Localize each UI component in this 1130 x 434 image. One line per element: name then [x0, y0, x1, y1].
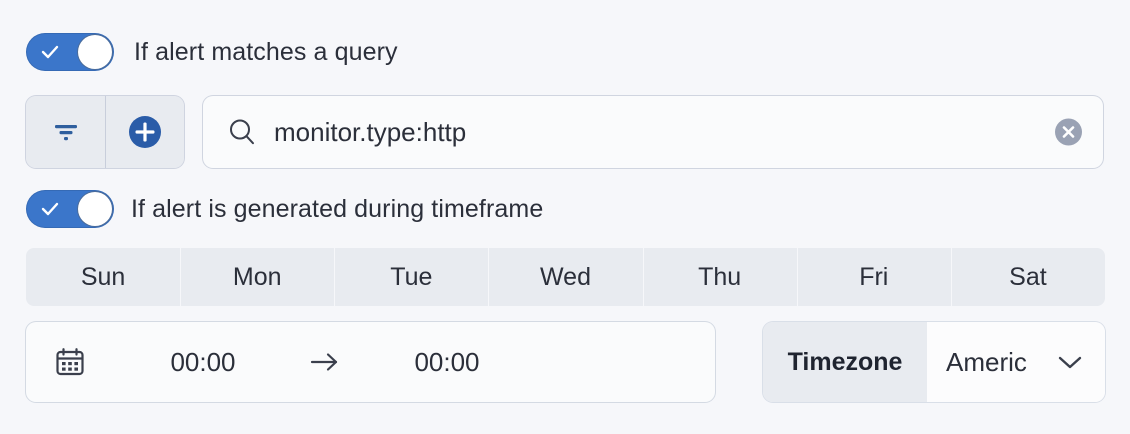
toggle-knob: [78, 35, 112, 69]
search-input[interactable]: monitor.type:http: [274, 117, 466, 148]
check-icon: [40, 42, 60, 62]
query-condition-toggle[interactable]: [26, 33, 114, 71]
filter-icon: [53, 121, 79, 143]
toggle-knob: [78, 192, 112, 226]
query-input-row: monitor.type:http: [26, 96, 1103, 168]
day-button-tue[interactable]: Tue: [334, 248, 488, 306]
timezone-group: Timezone Americ: [763, 322, 1105, 402]
timezone-label: Timezone: [763, 322, 927, 402]
time-range-picker[interactable]: 00:00 00:00: [26, 322, 715, 402]
timeframe-condition-label: If alert is generated during timeframe: [131, 195, 543, 224]
day-selector: Sun Mon Tue Wed Thu Fri Sat: [26, 248, 1105, 306]
timeframe-condition-row: If alert is generated during timeframe: [26, 190, 543, 228]
query-search-box[interactable]: monitor.type:http: [203, 96, 1103, 168]
query-condition-label: If alert matches a query: [134, 38, 398, 67]
day-button-mon[interactable]: Mon: [180, 248, 334, 306]
plus-circle-icon: [127, 114, 163, 150]
arrow-right-icon: [308, 349, 342, 375]
chevron-down-icon: [1055, 352, 1085, 372]
day-button-sat[interactable]: Sat: [951, 248, 1105, 306]
search-icon: [227, 117, 257, 147]
query-condition-row: If alert matches a query: [26, 33, 398, 71]
timezone-select[interactable]: Americ: [927, 322, 1105, 402]
timeframe-condition-toggle[interactable]: [26, 190, 114, 228]
add-query-button[interactable]: [105, 96, 184, 168]
check-icon: [40, 199, 60, 219]
clear-search-button[interactable]: [1055, 119, 1082, 146]
filter-button[interactable]: [26, 96, 105, 168]
calendar-icon: [54, 346, 86, 378]
day-button-fri[interactable]: Fri: [797, 248, 951, 306]
day-button-wed[interactable]: Wed: [488, 248, 642, 306]
end-time-value[interactable]: 00:00: [342, 347, 552, 378]
timezone-value: Americ: [946, 347, 1027, 378]
query-button-group: [26, 96, 184, 168]
alert-conditions-panel: If alert matches a query: [0, 0, 1130, 434]
day-button-thu[interactable]: Thu: [643, 248, 797, 306]
day-button-sun[interactable]: Sun: [26, 248, 180, 306]
start-time-value[interactable]: 00:00: [98, 347, 308, 378]
